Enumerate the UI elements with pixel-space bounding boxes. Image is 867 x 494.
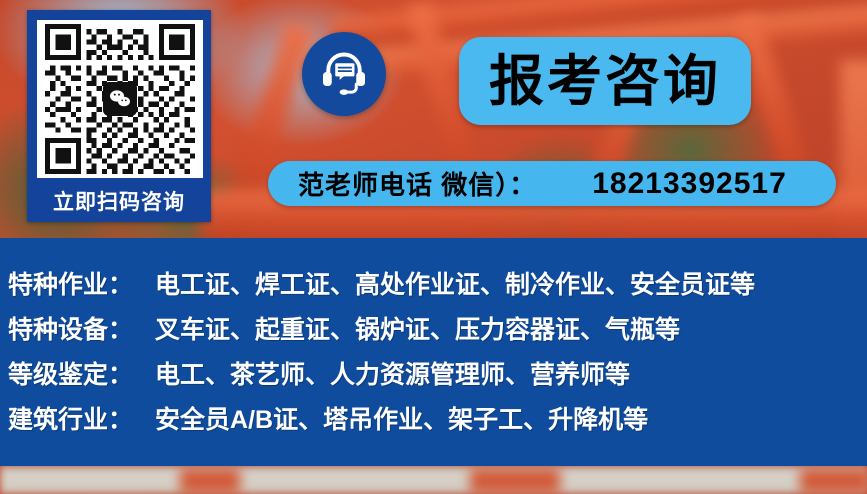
category-items: 电工、茶艺师、人力资源管理师、营养师等 [155,355,630,391]
headset-support-badge[interactable] [302,32,386,116]
category-name: 建筑行业： [8,400,133,436]
qr-code-icon[interactable] [45,24,195,174]
phone-pill[interactable]: 范老师电话 微信）： 18213392517 [268,161,836,206]
category-name: 特种作业： [8,265,133,301]
category-name: 等级鉴定： [8,355,133,391]
category-items: 叉车证、起重证、锅炉证、压力容器证、气瓶等 [155,310,680,346]
promo-poster: 立即扫码咨询 报考咨询 范老师电话 微信）： 18213392517 [0,0,867,494]
phone-number[interactable]: 18213392517 [592,167,787,201]
category-panel: 特种作业： 电工证、焊工证、高处作业证、制冷作业、安全员证等 特种设备： 叉车证… [0,238,867,466]
ground-strip [0,466,867,494]
title-pill: 报考咨询 [459,37,751,125]
qr-caption: 立即扫码咨询 [30,183,208,219]
headset-support-icon [316,44,372,105]
category-items: 电工证、焊工证、高处作业证、制冷作业、安全员证等 [155,265,755,301]
ground-red-mid [470,468,560,494]
phone-label: 范老师电话 微信）： [298,165,536,202]
wechat-icon [103,82,137,116]
category-items: 安全员A/B证、塔吊作业、架子工、升降机等 [155,400,648,436]
qr-code-area[interactable] [37,20,203,178]
ground-red-right [800,468,867,494]
category-name: 特种设备： [8,310,133,346]
category-row: 等级鉴定： 电工、茶艺师、人力资源管理师、营养师等 [0,350,867,395]
qr-card[interactable]: 立即扫码咨询 [27,10,211,222]
ground-red-left [180,468,240,494]
category-row: 特种作业： 电工证、焊工证、高处作业证、制冷作业、安全员证等 [0,260,867,305]
category-row: 建筑行业： 安全员A/B证、塔吊作业、架子工、升降机等 [0,395,867,440]
title-text: 报考咨询 [489,54,721,109]
category-row: 特种设备： 叉车证、起重证、锅炉证、压力容器证、气瓶等 [0,305,867,350]
